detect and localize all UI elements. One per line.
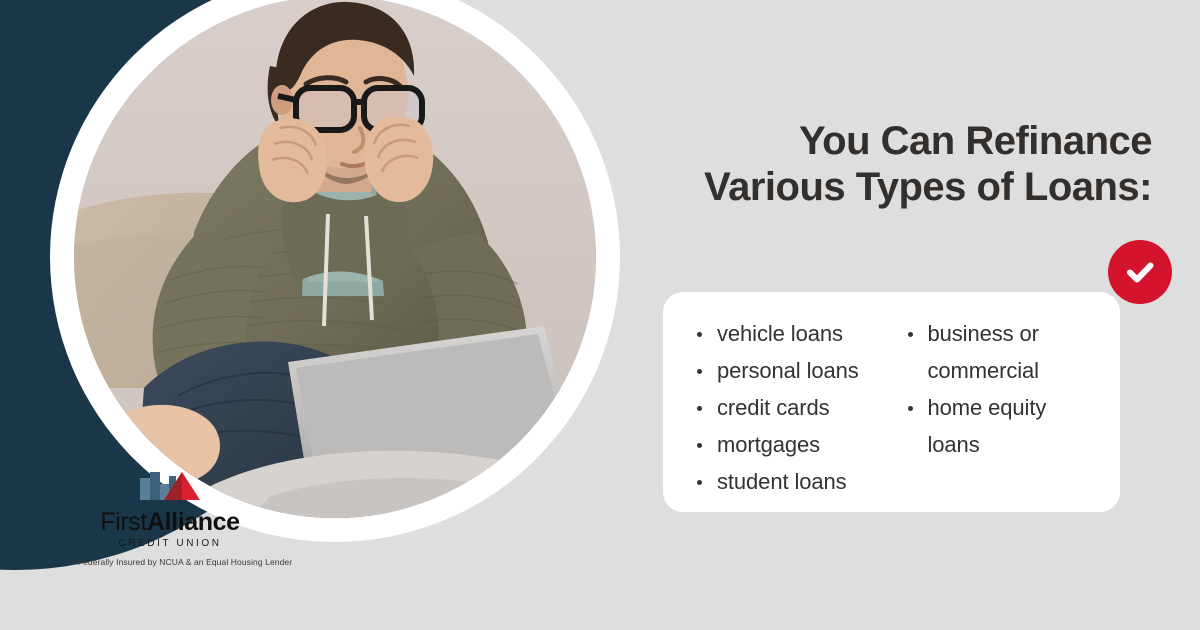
logo-wordmark: FirstAlliance [55,510,285,535]
check-circle-icon [1108,240,1172,304]
loan-list-left: vehicle loans personal loans credit card… [693,316,892,501]
list-item: student loans [693,464,892,501]
hero-photo [74,0,596,518]
logo-subtitle: CREDIT UNION [55,538,285,549]
building-and-triangle-logomark [138,470,202,504]
headline-line-2: Various Types of Loans: [632,164,1152,210]
headline-line-1: You Can Refinance [632,118,1152,164]
loan-list-right-column: business or commercial home equity loans [892,316,1103,494]
loan-list-left-column: vehicle loans personal loans credit card… [693,316,892,494]
list-item: mortgages [693,427,892,464]
promo-canvas: FirstAlliance CREDIT UNION Federally Ins… [0,0,1200,630]
page-title: You Can Refinance Various Types of Loans… [632,118,1152,211]
brand-logo: FirstAlliance CREDIT UNION [55,470,285,549]
list-item: vehicle loans [693,316,892,353]
list-item: personal loans [693,353,892,390]
logo-word-alliance: Alliance [147,508,240,536]
list-item: credit cards [693,390,892,427]
ncua-disclaimer: Federally Insured by NCUA & an Equal Hou… [55,557,315,567]
loan-types-card: vehicle loans personal loans credit card… [663,292,1120,512]
loan-list-right: business or commercial home equity loans [904,316,1103,464]
list-item: home equity loans [904,390,1103,464]
logo-word-first: First [100,508,147,536]
list-item: business or commercial [904,316,1103,390]
